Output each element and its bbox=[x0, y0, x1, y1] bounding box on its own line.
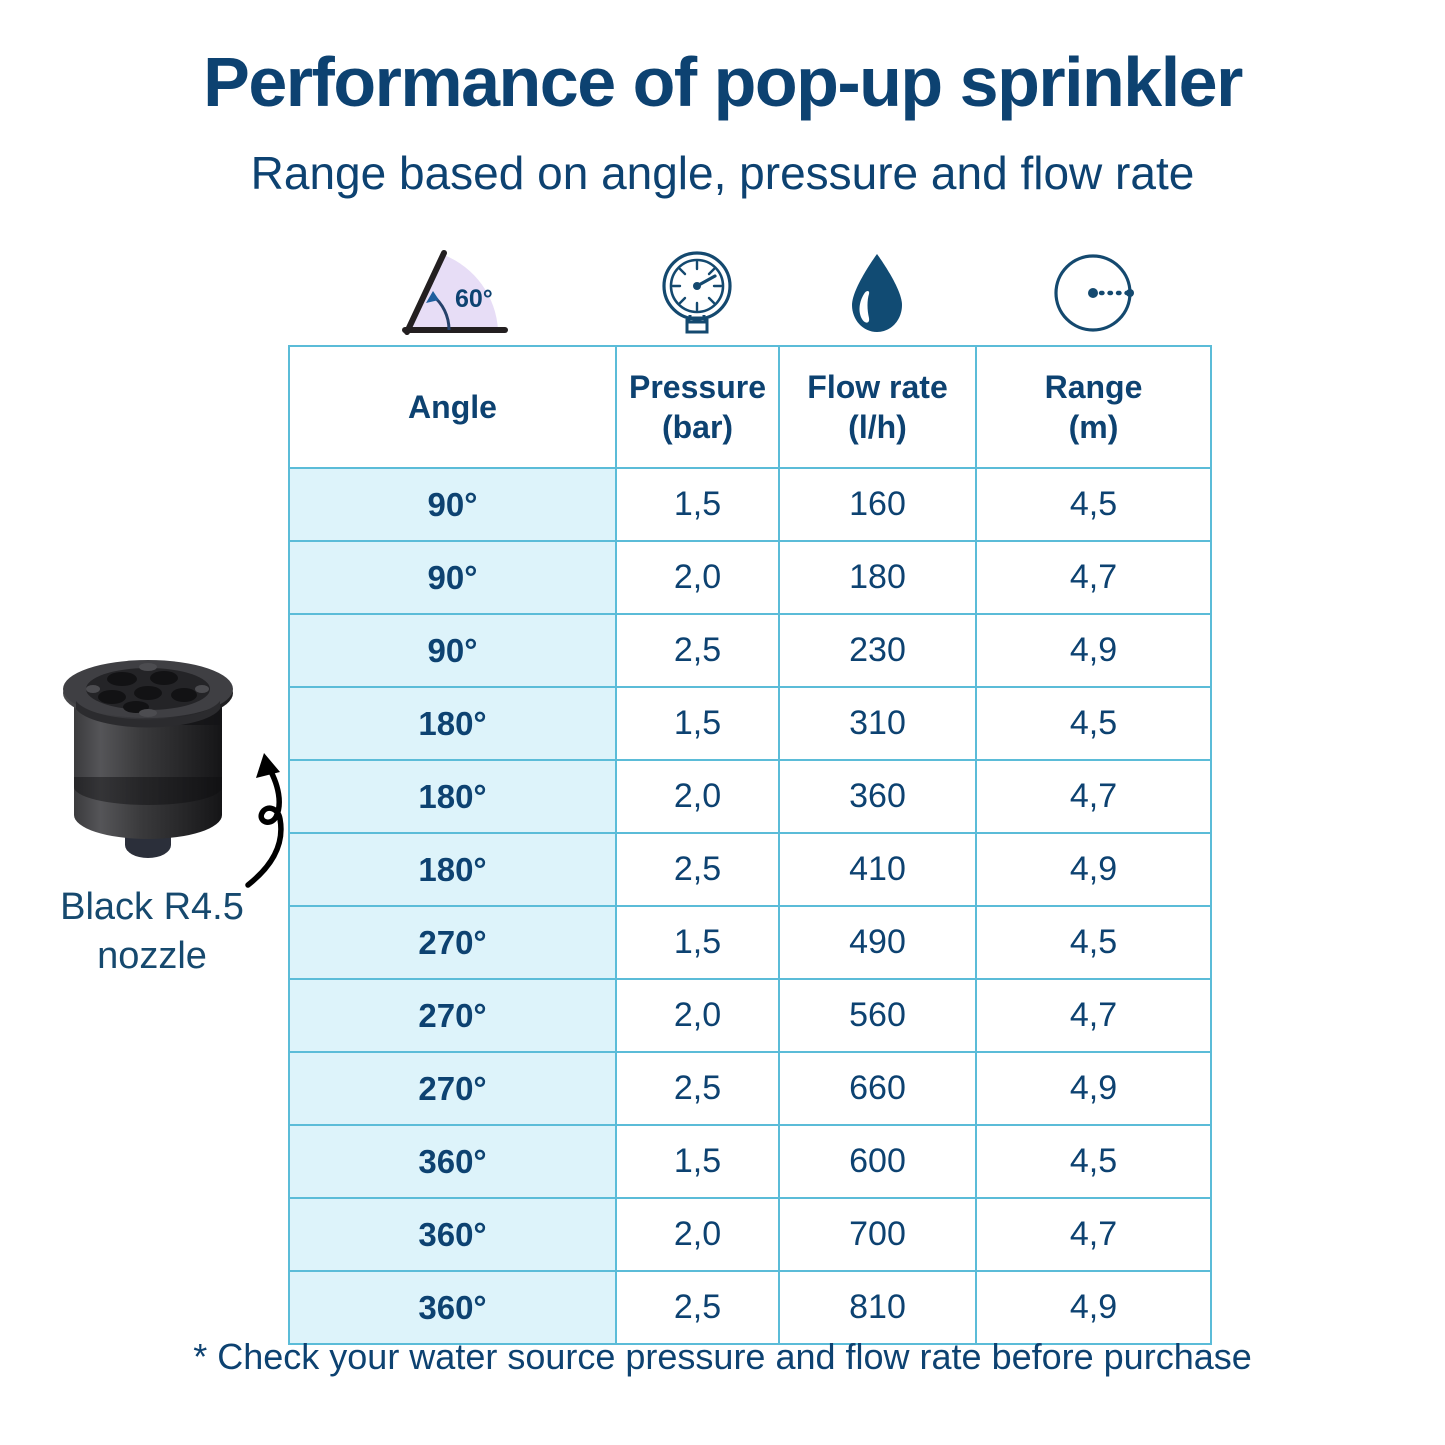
pressure-icon-cell bbox=[615, 245, 778, 340]
table-row: 270°1,54904,5 bbox=[289, 906, 1211, 979]
angle-icon-cell: 60° bbox=[288, 245, 615, 340]
table-row: 90°2,01804,7 bbox=[289, 541, 1211, 614]
cell-angle: 90° bbox=[289, 541, 616, 614]
table-row: 90°1,51604,5 bbox=[289, 468, 1211, 541]
rotation-arrow-icon bbox=[218, 745, 298, 890]
cell-range: 4,7 bbox=[976, 760, 1211, 833]
product-caption-line2: nozzle bbox=[97, 935, 207, 977]
cell-flow: 600 bbox=[779, 1125, 976, 1198]
cell-flow: 160 bbox=[779, 468, 976, 541]
cell-angle: 180° bbox=[289, 760, 616, 833]
table-row: 180°2,54104,9 bbox=[289, 833, 1211, 906]
cell-flow: 700 bbox=[779, 1198, 976, 1271]
cell-range: 4,7 bbox=[976, 979, 1211, 1052]
pressure-gauge-icon bbox=[657, 248, 737, 338]
angle-icon-label: 60° bbox=[455, 285, 493, 313]
table-body: 90°1,51604,590°2,01804,790°2,52304,9180°… bbox=[289, 468, 1211, 1344]
cell-angle: 180° bbox=[289, 833, 616, 906]
cell-pressure: 1,5 bbox=[616, 687, 779, 760]
cell-angle: 360° bbox=[289, 1125, 616, 1198]
table-row: 180°2,03604,7 bbox=[289, 760, 1211, 833]
cell-flow: 660 bbox=[779, 1052, 976, 1125]
cell-angle: 360° bbox=[289, 1271, 616, 1344]
cell-flow: 360 bbox=[779, 760, 976, 833]
cell-pressure: 2,0 bbox=[616, 541, 779, 614]
cell-flow: 410 bbox=[779, 833, 976, 906]
cell-range: 4,7 bbox=[976, 541, 1211, 614]
cell-angle: 270° bbox=[289, 979, 616, 1052]
column-header-range-line1: Range bbox=[1045, 369, 1143, 405]
page-title: Performance of pop-up sprinkler bbox=[0, 46, 1445, 120]
column-header-angle-line1: Angle bbox=[408, 389, 497, 425]
cell-range: 4,9 bbox=[976, 614, 1211, 687]
table-row: 360°2,07004,7 bbox=[289, 1198, 1211, 1271]
table-row: 180°1,53104,5 bbox=[289, 687, 1211, 760]
product-caption: Black R4.5 nozzle bbox=[22, 883, 282, 980]
table-row: 270°2,56604,9 bbox=[289, 1052, 1211, 1125]
cell-angle: 180° bbox=[289, 687, 616, 760]
table-header-row: Angle Pressure (bar) Flow rate (l/h) Ran… bbox=[289, 346, 1211, 468]
column-header-flow-line2: (l/h) bbox=[848, 409, 907, 445]
cell-flow: 810 bbox=[779, 1271, 976, 1344]
table-row: 360°1,56004,5 bbox=[289, 1125, 1211, 1198]
cell-flow: 310 bbox=[779, 687, 976, 760]
table-row: 270°2,05604,7 bbox=[289, 979, 1211, 1052]
cell-angle: 270° bbox=[289, 906, 616, 979]
performance-table: Angle Pressure (bar) Flow rate (l/h) Ran… bbox=[288, 345, 1212, 1345]
cell-range: 4,7 bbox=[976, 1198, 1211, 1271]
cell-pressure: 2,5 bbox=[616, 833, 779, 906]
cell-pressure: 1,5 bbox=[616, 468, 779, 541]
cell-angle: 90° bbox=[289, 614, 616, 687]
circle-radius-icon bbox=[1049, 249, 1137, 337]
column-header-range: Range (m) bbox=[976, 346, 1211, 468]
cell-range: 4,5 bbox=[976, 906, 1211, 979]
range-icon-cell bbox=[975, 245, 1210, 340]
column-icon-row: 60° bbox=[288, 245, 1210, 340]
table-row: 360°2,58104,9 bbox=[289, 1271, 1211, 1344]
table-header: Angle Pressure (bar) Flow rate (l/h) Ran… bbox=[289, 346, 1211, 468]
page-subtitle: Range based on angle, pressure and flow … bbox=[0, 148, 1445, 199]
cell-pressure: 2,5 bbox=[616, 614, 779, 687]
column-header-flow: Flow rate (l/h) bbox=[779, 346, 976, 468]
cell-flow: 490 bbox=[779, 906, 976, 979]
cell-pressure: 1,5 bbox=[616, 906, 779, 979]
cell-range: 4,5 bbox=[976, 1125, 1211, 1198]
cell-pressure: 2,0 bbox=[616, 1198, 779, 1271]
cell-flow: 180 bbox=[779, 541, 976, 614]
cell-flow: 230 bbox=[779, 614, 976, 687]
column-header-flow-line1: Flow rate bbox=[807, 369, 947, 405]
product-block: Black R4.5 nozzle bbox=[22, 645, 292, 990]
cell-range: 4,5 bbox=[976, 468, 1211, 541]
cell-angle: 360° bbox=[289, 1198, 616, 1271]
cell-angle: 90° bbox=[289, 468, 616, 541]
cell-pressure: 2,5 bbox=[616, 1052, 779, 1125]
cell-pressure: 2,0 bbox=[616, 979, 779, 1052]
column-header-pressure: Pressure (bar) bbox=[616, 346, 779, 468]
column-header-pressure-line2: (bar) bbox=[662, 409, 733, 445]
sprinkler-nozzle-photo bbox=[52, 645, 244, 860]
cell-pressure: 1,5 bbox=[616, 1125, 779, 1198]
angle-icon: 60° bbox=[387, 247, 517, 339]
cell-pressure: 2,5 bbox=[616, 1271, 779, 1344]
water-drop-icon bbox=[844, 248, 910, 338]
table-row: 90°2,52304,9 bbox=[289, 614, 1211, 687]
product-caption-line1: Black R4.5 bbox=[60, 886, 244, 928]
flow-icon-cell bbox=[778, 245, 975, 340]
cell-range: 4,9 bbox=[976, 1052, 1211, 1125]
cell-range: 4,9 bbox=[976, 833, 1211, 906]
footnote-text: * Check your water source pressure and f… bbox=[0, 1336, 1445, 1378]
column-header-pressure-line1: Pressure bbox=[629, 369, 766, 405]
cell-angle: 270° bbox=[289, 1052, 616, 1125]
cell-flow: 560 bbox=[779, 979, 976, 1052]
column-header-angle: Angle bbox=[289, 346, 616, 468]
column-header-range-line2: (m) bbox=[1069, 409, 1119, 445]
cell-range: 4,5 bbox=[976, 687, 1211, 760]
cell-range: 4,9 bbox=[976, 1271, 1211, 1344]
cell-pressure: 2,0 bbox=[616, 760, 779, 833]
